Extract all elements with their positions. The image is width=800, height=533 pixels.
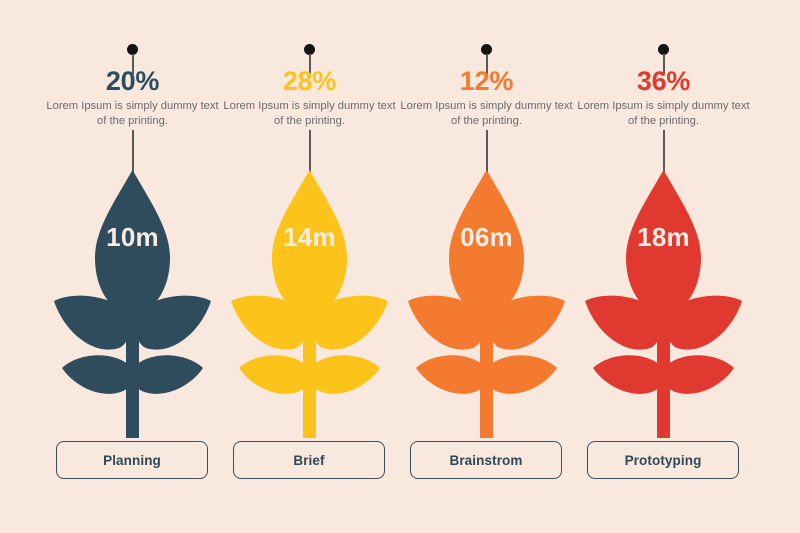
column-brainstrom: 12% Lorem Ipsum is simply dummy text of … xyxy=(399,0,574,533)
description-text: Lorem Ipsum is simply dummy text of the … xyxy=(219,99,400,129)
connector-line-bottom xyxy=(132,130,134,172)
connector-line-bottom xyxy=(309,130,311,172)
stage-label-brainstrom[interactable]: Brainstrom xyxy=(410,441,562,479)
connector-line-bottom xyxy=(663,130,665,172)
description-text: Lorem Ipsum is simply dummy text of the … xyxy=(396,99,577,129)
column-planning: 20% Lorem Ipsum is simply dummy text of … xyxy=(45,0,220,533)
stage-label-text: Planning xyxy=(103,453,161,468)
plant-graphic[interactable]: 14m xyxy=(222,168,397,438)
column-prototyping: 36% Lorem Ipsum is simply dummy text of … xyxy=(576,0,751,533)
connector-line-bottom xyxy=(486,130,488,172)
description-text: Lorem Ipsum is simply dummy text of the … xyxy=(42,99,223,129)
stage-label-text: Brief xyxy=(293,453,324,468)
stage-label-planning[interactable]: Planning xyxy=(56,441,208,479)
column-brief: 28% Lorem Ipsum is simply dummy text of … xyxy=(222,0,397,533)
stage-label-brief[interactable]: Brief xyxy=(233,441,385,479)
stage-label-prototyping[interactable]: Prototyping xyxy=(587,441,739,479)
percent-value: 36% xyxy=(576,68,751,95)
plant-graphic[interactable]: 10m xyxy=(45,168,220,438)
description-text: Lorem Ipsum is simply dummy text of the … xyxy=(573,99,754,129)
percent-value: 28% xyxy=(222,68,397,95)
percent-value: 20% xyxy=(45,68,220,95)
plant-graphic[interactable]: 18m xyxy=(576,168,751,438)
infographic-canvas: 20% Lorem Ipsum is simply dummy text of … xyxy=(0,0,800,533)
stage-label-text: Prototyping xyxy=(625,453,702,468)
plant-graphic[interactable]: 06m xyxy=(399,168,574,438)
stage-label-text: Brainstrom xyxy=(449,453,522,468)
percent-value: 12% xyxy=(399,68,574,95)
